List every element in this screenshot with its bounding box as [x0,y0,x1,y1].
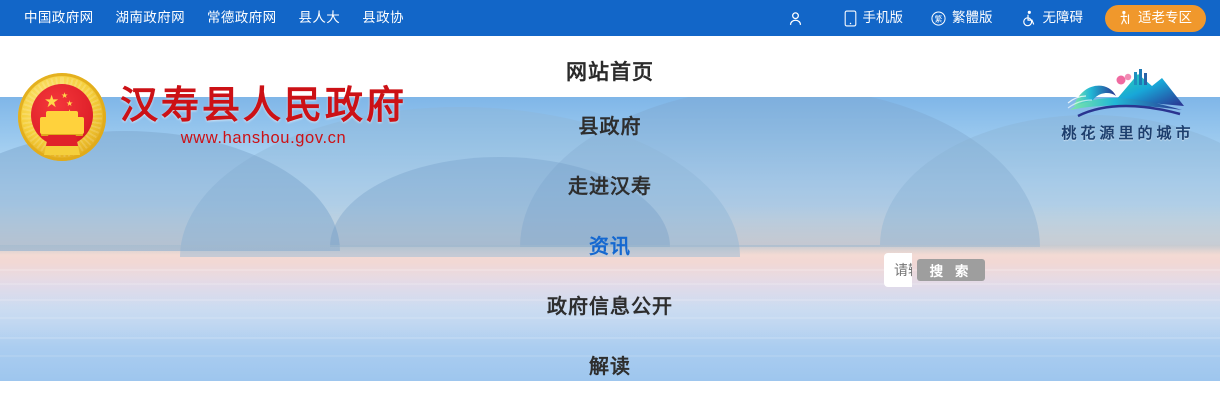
elder-zone-button[interactable]: 适老专区 [1105,5,1206,32]
traditional-chinese-button[interactable]: 繁 繁體版 [917,11,1007,26]
nav-item-about-hanshou[interactable]: 走进汉寿 [0,157,1220,217]
search-bar: 搜 索 [884,253,985,287]
elderly-person-icon [1117,10,1132,26]
user-icon [787,10,804,27]
topbar-link-county-cppcc[interactable]: 县政协 [362,11,404,25]
traditional-chinese-label: 繁體版 [952,11,993,25]
mobile-version-button[interactable]: 手机版 [830,10,918,27]
nav-item-news[interactable]: 资讯 [0,217,1220,277]
user-login-button[interactable] [779,10,830,27]
top-tools-group: 手机版 繁 繁體版 无障碍 [779,5,1220,32]
topbar-link-changde-gov[interactable]: 常德政府网 [207,11,277,25]
svg-text:繁: 繁 [935,13,943,23]
nav-item-county-government[interactable]: 县政府 [0,97,1220,157]
search-button[interactable]: 搜 索 [917,259,985,281]
mobile-version-label: 手机版 [863,11,904,25]
accessibility-button[interactable]: 无障碍 [1007,10,1098,27]
search-input[interactable] [884,253,912,287]
elder-zone-label: 适老专区 [1138,11,1192,25]
top-utility-bar: 中国政府网 湖南政府网 常德政府网 县人大 县政协 手机版 [0,0,1220,36]
topbar-link-hunan-gov[interactable]: 湖南政府网 [116,11,186,25]
mobile-icon [844,10,857,27]
accessibility-icon [1021,10,1037,27]
main-navigation: 县政府 走进汉寿 资讯 政府信息公开 解读 [0,97,1220,397]
accessibility-label: 无障碍 [1043,11,1084,25]
topbar-link-county-npc[interactable]: 县人大 [299,11,341,25]
page-body-area [0,381,1220,400]
traditional-chinese-icon: 繁 [931,11,946,26]
nav-item-gov-info-disclosure[interactable]: 政府信息公开 [0,277,1220,337]
top-links-group: 中国政府网 湖南政府网 常德政府网 县人大 县政协 [0,11,404,25]
topbar-link-china-gov[interactable]: 中国政府网 [24,11,94,25]
